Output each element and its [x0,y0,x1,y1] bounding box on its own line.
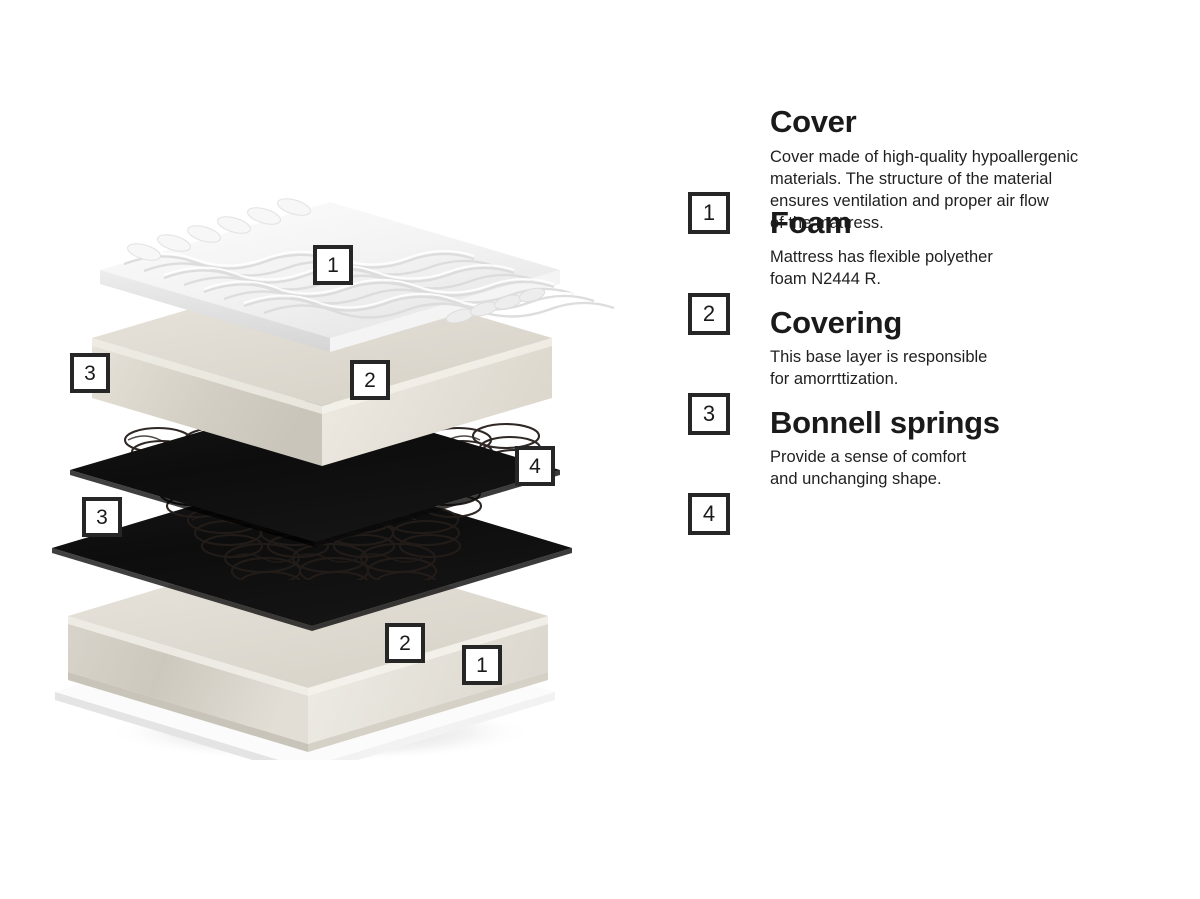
legend-badge-2: 2 [688,293,730,335]
callout-4-bonnell-springs: 4 [515,446,555,486]
legend-badge-4: 4 [688,493,730,535]
legend-title-bonnell-springs: Bonnell springs [770,407,1168,440]
legend-badge-3: 3 [688,393,730,435]
legend-list: 1 Cover Cover made of high-quality hypoa… [688,148,1168,553]
infographic-page: 1 3 2 4 3 2 1 1 Cover Cover made of high… [0,0,1200,899]
legend-title-covering: Covering [770,307,1168,340]
legend-title-foam: Foam [770,207,1168,240]
legend-description-covering: This base layer is responsible for amorr… [770,346,1168,391]
legend-title-cover: Cover [770,106,1168,139]
callout-2-foam-bottom: 2 [385,623,425,663]
callout-3-covering-top: 3 [70,353,110,393]
legend-description-bonnell-springs: Provide a sense of comfort and unchangin… [770,446,1168,491]
callout-3-covering-bottom: 3 [82,497,122,537]
callout-1-cover-top: 1 [313,245,353,285]
legend-badge-1: 1 [688,192,730,234]
callout-1-cover-bottom: 1 [462,645,502,685]
callout-2-foam-top: 2 [350,360,390,400]
legend-description-foam: Mattress has flexible polyether foam N24… [770,246,1168,291]
mattress-exploded-diagram: 1 3 2 4 3 2 1 [40,140,660,760]
legend-item-bonnell-springs: 4 Bonnell springs Provide a sense of com… [688,449,1168,535]
